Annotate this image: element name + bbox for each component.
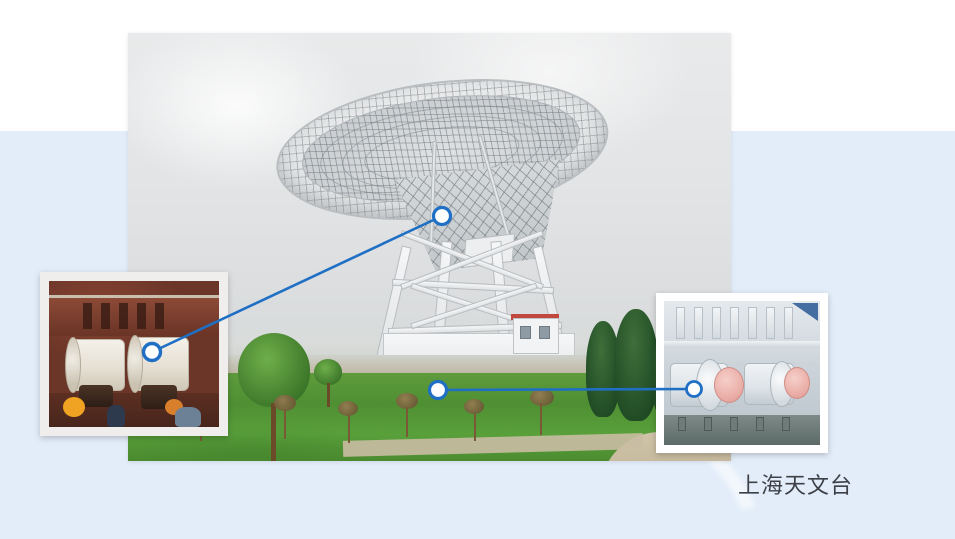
callout-card-right	[656, 293, 828, 453]
shrub-7	[530, 389, 554, 406]
gearbox-cross-beam	[49, 295, 219, 336]
shrub-6	[464, 399, 484, 414]
control-hut	[513, 318, 559, 354]
shrub-4	[338, 401, 358, 416]
sapling-3	[284, 409, 286, 439]
worker-helmet-yellow	[63, 397, 85, 417]
sapling-4	[348, 415, 350, 443]
drive-endcap-right	[784, 367, 810, 399]
gearbox-slot-2	[101, 303, 110, 329]
worker-figure-1	[107, 405, 125, 427]
callout-right-photo	[664, 301, 820, 445]
drive-bolt-5	[782, 417, 790, 431]
slide-canvas: 上海天文台	[0, 0, 955, 539]
drive-bolt-2	[704, 417, 712, 431]
drive-base-platform	[664, 415, 820, 445]
hut-window-2	[539, 326, 550, 339]
gearbox-flange-left	[65, 337, 81, 393]
drive-fin-1	[676, 307, 685, 339]
gearbox-slot-5	[155, 303, 164, 329]
worker-figure-2	[175, 407, 201, 427]
drive-fin-2	[694, 307, 703, 339]
drive-fin-5	[748, 307, 757, 339]
sapling-7	[540, 403, 542, 435]
callout-left-photo	[49, 281, 219, 427]
gearbox-slot-3	[119, 303, 128, 329]
gearbox-slot-1	[83, 303, 92, 329]
drive-bolt-1	[678, 417, 686, 431]
drive-rail	[664, 341, 820, 348]
drive-endcap-left	[714, 367, 744, 403]
gearbox-slot-4	[137, 303, 146, 329]
hut-window-1	[520, 326, 531, 339]
sapling-5	[406, 407, 408, 437]
drive-fin-7	[784, 307, 793, 339]
drive-fin-6	[766, 307, 775, 339]
drive-housing-top	[664, 301, 820, 363]
drive-fin-3	[712, 307, 721, 339]
photo-caption: 上海天文台	[738, 468, 853, 500]
drive-bolt-3	[730, 417, 738, 431]
sapling-6	[474, 413, 476, 441]
drive-fin-4	[730, 307, 739, 339]
callout-card-left	[40, 272, 228, 436]
gearbox-flange-right	[127, 335, 143, 393]
drive-bolt-4	[756, 417, 764, 431]
